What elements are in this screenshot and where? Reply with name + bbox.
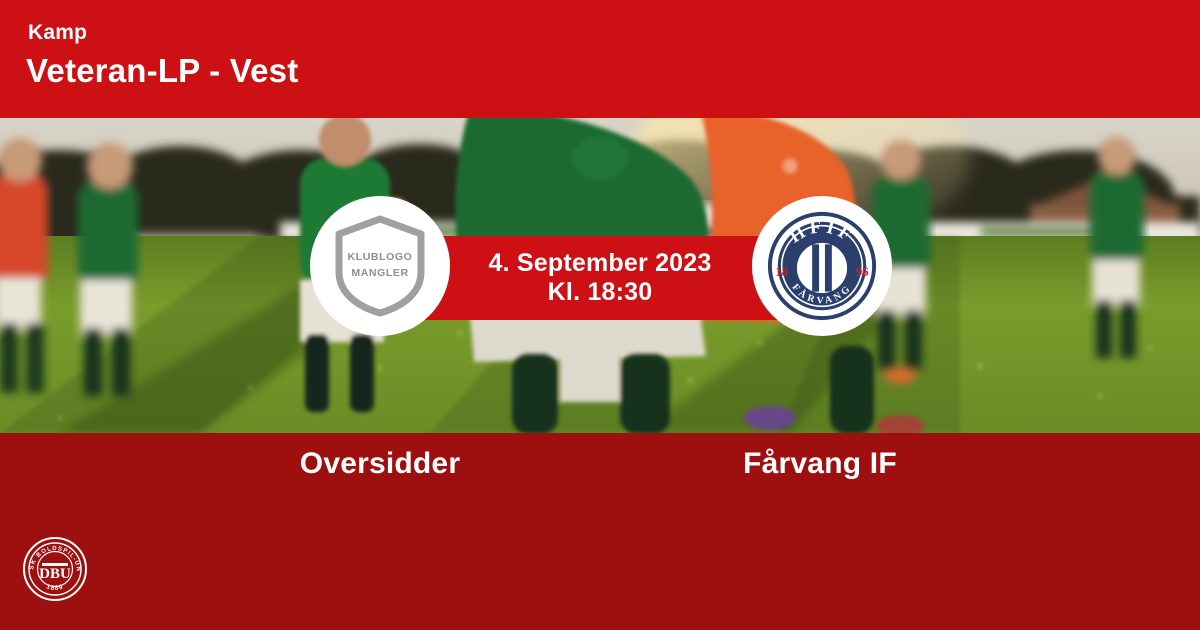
home-team-name: Oversidder (200, 447, 560, 481)
dbu-abbr: DBU (39, 566, 71, 582)
svg-text:1889: 1889 (45, 583, 64, 592)
missing-logo-line2: MANGLER (351, 266, 408, 282)
team-names-band (0, 433, 1200, 630)
dbu-logo[interactable]: DANSK BOLDSPIL-UNION 1889 DBU (22, 536, 88, 602)
page-title: Veteran-LP - Vest (26, 52, 298, 90)
match-time: Kl. 18:30 (548, 278, 653, 308)
header-eyebrow: Kamp (28, 21, 87, 45)
match-datetime: 4. September 2023 Kl. 18:30 (410, 236, 790, 320)
dbu-federation-icon: DANSK BOLDSPIL-UNION 1889 DBU (22, 536, 88, 602)
dbu-year: 1889 (45, 583, 64, 592)
missing-logo-line1: KLUBLOGO (348, 250, 413, 266)
poster-header: Kamp Veteran-LP - Vest (0, 0, 1200, 118)
crest-year-right: 96 (856, 265, 869, 279)
match-date: 4. September 2023 (489, 249, 712, 279)
away-team-name: Fårvang IF (640, 447, 1000, 481)
match-poster: Kamp Veteran-LP - Vest (0, 0, 1200, 630)
